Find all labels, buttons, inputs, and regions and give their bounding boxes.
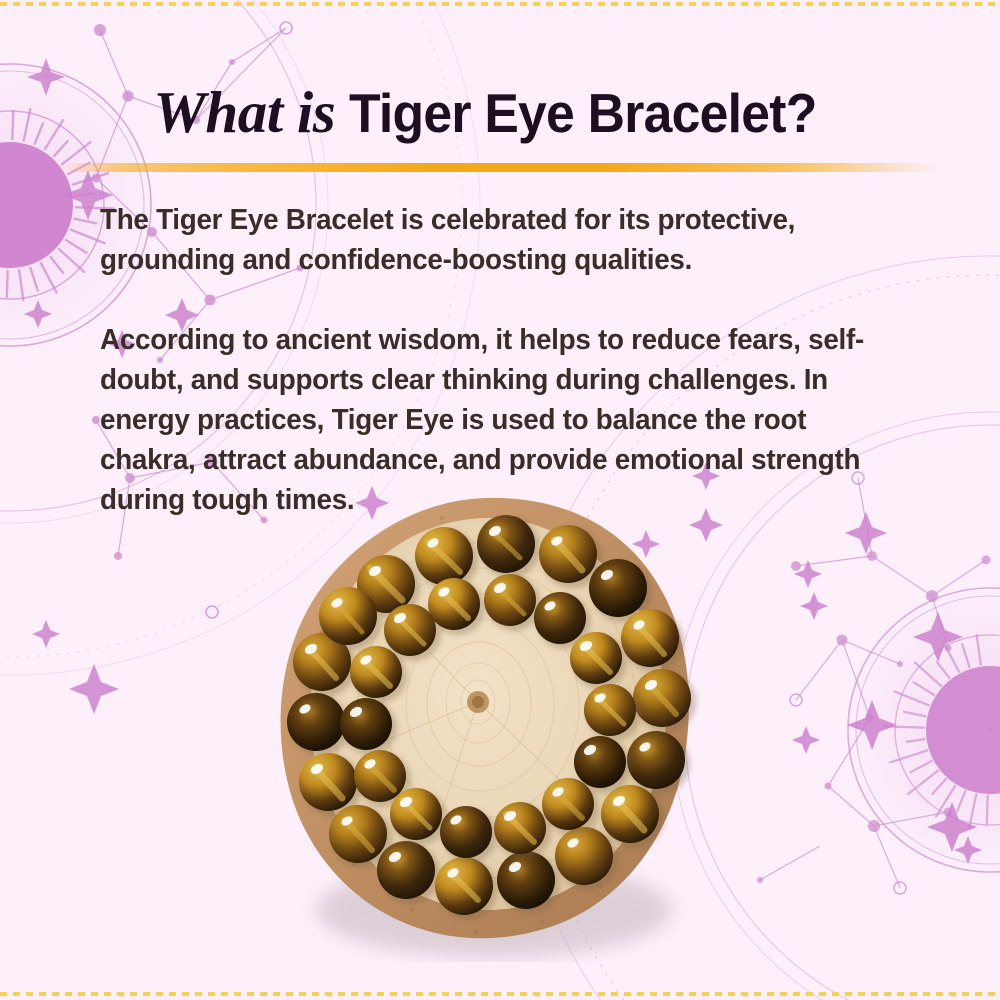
product-image xyxy=(262,492,714,962)
page-title-bold-part: Tiger Eye Bracelet? xyxy=(349,81,817,145)
top-dashed-rule xyxy=(0,2,1000,6)
title-divider xyxy=(62,163,942,172)
page-title-script-part: What is xyxy=(153,79,335,145)
page-title: What isTiger Eye Bracelet? xyxy=(0,78,1000,147)
paragraph-1: The Tiger Eye Bracelet is celebrated for… xyxy=(100,200,906,280)
bottom-dashed-rule xyxy=(0,992,1000,996)
sun-burst-bottom-right xyxy=(840,580,1000,880)
body-copy: The Tiger Eye Bracelet is celebrated for… xyxy=(100,200,940,520)
infographic-poster: What isTiger Eye Bracelet? The Tiger Eye… xyxy=(0,0,1000,1000)
paragraph-2: According to ancient wisdom, it helps to… xyxy=(100,320,906,520)
